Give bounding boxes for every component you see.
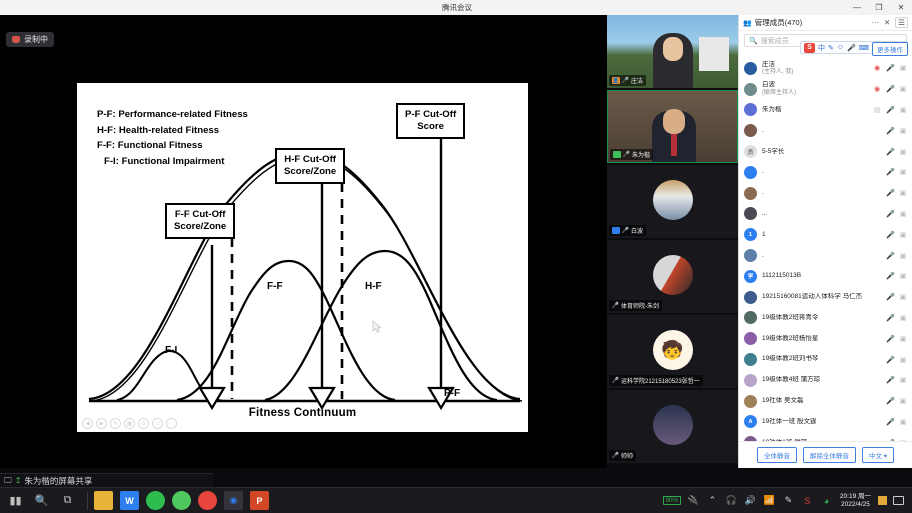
participant-name-text: 庄洁	[762, 61, 775, 68]
row-actions: 🎤 ▣	[886, 127, 907, 135]
video-tile-0[interactable]: 👤 🎤 庄洁	[607, 15, 738, 88]
list-item[interactable]: A 19社体一班 殷文霆 🎤 ▣	[739, 412, 912, 433]
share-bar-text: 朱为楷的屏幕共享	[24, 475, 92, 487]
participant-name: .	[762, 168, 764, 176]
video-tile-3[interactable]: 🎤 体育师院-朱剑	[607, 240, 738, 313]
row-actions: 🎤 ▣	[886, 148, 907, 156]
participants-panel: 👥 管理成员(470) ⋯ ✕ ☰ 🔍 搜索成员 S 中 ✎ ☺ 🎤 ⌨ 👤	[738, 15, 912, 468]
window-controls: — ❐ ✕	[846, 0, 912, 15]
pen-icon[interactable]: ✎	[110, 418, 121, 429]
camera-icon[interactable]: ▣	[899, 356, 907, 364]
mic-muted-icon[interactable]: 🎤	[886, 189, 894, 197]
participant-name-text: 5-5学长	[762, 148, 784, 155]
avatar	[744, 332, 757, 345]
mic-muted-icon[interactable]: 🎤	[886, 376, 894, 384]
participant-name-text: 白波	[762, 81, 775, 88]
row-actions: 🎤 ▣	[886, 189, 907, 197]
system-tray: 90% 🔌 ⌃ 🎧 🔊 📶 ✎ S ◕ 20:19 周一 2022/4/25	[663, 493, 909, 508]
ime-emoji-icon[interactable]: ☺	[837, 44, 844, 51]
language-button[interactable]: 中文 ▾	[862, 447, 894, 463]
avatar	[744, 353, 757, 366]
recording-label: 录制中	[24, 34, 48, 45]
tile-namebar-1: 🎤 朱为楷	[610, 149, 653, 160]
tie-shape	[671, 134, 677, 156]
participant-name: .	[762, 252, 764, 260]
volume-icon[interactable]: 🔊	[744, 494, 757, 508]
row-actions: 🎤 ▣	[886, 168, 907, 176]
tile-name-2: 白波	[631, 226, 643, 235]
row-actions: 🎤 ▣	[886, 231, 907, 239]
panel-title: 管理成员(470)	[755, 17, 803, 28]
mic-muted-icon: 🎤	[612, 377, 619, 384]
camera-icon[interactable]: ▣	[899, 397, 907, 405]
list-item[interactable]: 员 5-5学长 🎤 ▣	[739, 141, 912, 162]
mic-muted-icon[interactable]: 🎤	[886, 127, 894, 135]
camera-icon[interactable]: ▣	[899, 189, 907, 197]
face-shape	[663, 109, 685, 134]
curve-hf	[265, 251, 497, 400]
camera-icon[interactable]: ▣	[899, 64, 907, 72]
unmute-all-button[interactable]: 解除全体静音	[803, 447, 856, 463]
avatar	[744, 249, 757, 262]
tile-name-4: 运科学院21215180523张哲一	[621, 376, 700, 385]
avatar	[744, 187, 757, 200]
participant-name: .	[762, 127, 764, 135]
camera-icon[interactable]: ▣	[899, 148, 907, 156]
row-actions: 🎤 ▣	[886, 418, 907, 426]
list-item[interactable]: 19级体教4班 蒲方琼 🎤 ▣	[739, 370, 912, 391]
row-actions: 🎤 ▣	[886, 210, 907, 218]
participant-name-text: ...	[762, 210, 767, 217]
record-icon	[12, 36, 20, 43]
headset-icon[interactable]: 🎧	[725, 494, 738, 508]
mouse-cursor	[373, 321, 381, 332]
video-tile-2[interactable]: 🎤 白波	[607, 165, 738, 238]
tile-name-0: 庄洁	[631, 76, 643, 85]
participant-name: 白波 (联席主持人)	[762, 81, 796, 97]
avatar: 员	[744, 145, 757, 158]
video-filmstrip: 👤 🎤 庄洁 🎤 朱为楷 🎤 白波	[607, 15, 738, 468]
participant-name-text: .	[762, 189, 764, 196]
avatar	[744, 166, 757, 179]
mic-muted-icon[interactable]: 🎤	[886, 252, 894, 260]
chevron-up-icon[interactable]: ⌃	[706, 494, 719, 508]
mic-muted-icon[interactable]: 🎤	[886, 418, 894, 426]
mic-muted-icon[interactable]: 🎤	[886, 356, 894, 364]
list-item[interactable]: 19215160081运动人体科学 马仁杰 🎤 ▣	[739, 287, 912, 308]
green-badge-icon	[613, 151, 621, 158]
search-placeholder: 搜索成员	[761, 36, 789, 46]
avatar: 1	[744, 228, 757, 241]
face-shape	[663, 37, 683, 61]
curve-label-ff: F-F	[267, 281, 283, 292]
camera-icon[interactable]: ▣	[899, 376, 907, 384]
panel-menu-icon[interactable]: ☰	[895, 17, 908, 28]
row-actions: 🎤 ▣	[886, 376, 907, 384]
battery-indicator[interactable]: 90%	[663, 496, 681, 505]
list-item[interactable]: . 🎤 ▣	[739, 183, 912, 204]
windows-start-icon[interactable]: ▮▮	[8, 493, 23, 508]
participant-name: .	[762, 189, 764, 197]
ime-pen-icon[interactable]: ✎	[828, 44, 834, 52]
list-item[interactable]: 19级体教2班杨怡星 🎤 ▣	[739, 328, 912, 349]
mic-muted-icon: 🎤	[622, 77, 629, 84]
mic-muted-icon[interactable]: 🎤	[886, 64, 894, 72]
row-actions: 🎤 ▣	[886, 314, 907, 322]
next-icon[interactable]: ▶	[96, 418, 107, 429]
note-icon[interactable]	[878, 496, 887, 505]
avatar	[653, 255, 693, 295]
list-item[interactable]: 19级体教2班刘书琴 🎤 ▣	[739, 349, 912, 370]
7g-icon[interactable]: ◕	[820, 494, 833, 508]
clock-time: 20:19 周一	[840, 493, 871, 500]
slideshow-toolbar: ◀ ▶ ✎ ▦ ◎ ▭ ⋯	[82, 418, 177, 429]
avatar	[653, 405, 693, 445]
avatar	[744, 291, 757, 304]
house-shape	[699, 37, 729, 71]
curve-pf	[89, 153, 520, 399]
camera-icon[interactable]: ▣	[899, 231, 907, 239]
participant-name: ...	[762, 210, 767, 218]
callout-pf-line1: P-F Cut-Off	[405, 109, 456, 121]
taskbar-app-buttons: W ◉ P	[94, 491, 269, 510]
camera-icon[interactable]: ▣	[899, 85, 907, 93]
meeting-window-titlebar: 腾讯会议 — ❐ ✕	[0, 0, 912, 15]
video-tile-5[interactable]: 🎤 帅帅	[607, 390, 738, 463]
tile-namebar-2: 🎤 白波	[609, 225, 646, 236]
recording-indicator: 录制中	[6, 32, 54, 47]
callout-ff-cutoff: F-F Cut-Off Score/Zone	[165, 203, 235, 239]
notification-icon[interactable]	[893, 496, 904, 505]
participant-name-text: 19215160081运动人体科学 马仁杰	[762, 293, 862, 300]
row-actions: 🎤 ▣	[886, 293, 907, 301]
participant-name-text: .	[762, 168, 764, 175]
list-item[interactable]: 19级体教2班蒋青令 🎤 ▣	[739, 308, 912, 329]
taskbar-clock[interactable]: 20:19 周一 2022/4/25	[839, 493, 872, 508]
camera-icon[interactable]: ▣	[899, 168, 907, 176]
mic-muted-icon[interactable]: 🎤	[886, 168, 894, 176]
sogou-logo-icon[interactable]: S	[804, 43, 815, 53]
avatar: A	[744, 415, 757, 428]
ime-keyboard-icon[interactable]: ⌨	[859, 44, 869, 52]
camera-icon[interactable]: ▣	[899, 106, 907, 114]
avatar	[744, 311, 757, 324]
tile-name-1: 朱为楷	[632, 150, 650, 159]
window-title: 腾讯会议	[442, 2, 472, 13]
sogou-icon[interactable]: S	[801, 494, 814, 508]
participant-name: 19级体教2班刘书琴	[762, 355, 818, 363]
camera-icon[interactable]: ▣	[899, 252, 907, 260]
panel-more-icon[interactable]: ⋯	[871, 18, 879, 27]
row-actions: ◉ 🎤 ▣	[873, 64, 907, 72]
participant-name-text: .	[762, 127, 764, 134]
list-item[interactable]: . 🎤 ▣	[739, 162, 912, 183]
avatar	[744, 395, 757, 408]
slides-icon[interactable]: ▦	[124, 418, 135, 429]
taskbar-app-powerpoint[interactable]: P	[250, 491, 269, 510]
participant-name: 19级体教2班杨怡星	[762, 335, 818, 343]
presentation-slide: P-F: Performance-related Fitness H-F: He…	[75, 81, 530, 434]
avatar	[744, 207, 757, 220]
participant-name-text: 19级体教2班刘书琴	[762, 355, 818, 362]
avatar	[653, 180, 693, 220]
list-item[interactable]: . 🎤 ▣	[739, 120, 912, 141]
taskbar-app-file-explorer[interactable]	[94, 491, 113, 510]
mic-muted-icon[interactable]: 🎤	[886, 397, 894, 405]
shield-icon[interactable]: ▤	[873, 106, 881, 114]
callout-pf-line2: Score	[405, 121, 456, 133]
list-item[interactable]: 白波 (联席主持人) ◉ 🎤 ▣	[739, 79, 912, 100]
mic-muted-icon[interactable]: 🎤	[886, 210, 894, 218]
mic-muted-icon: 🎤	[612, 452, 619, 459]
mic-muted-icon[interactable]: 🎤	[886, 335, 894, 343]
panel-header: 👥 管理成员(470) ⋯ ✕ ☰	[739, 15, 912, 31]
participants-list[interactable]: 庄洁 (主持人, 我) ◉ 🎤 ▣ 白波 (联席主持人) ◉ 🎤	[739, 58, 912, 441]
taskbar-app-tencent-meeting[interactable]: ◉	[224, 491, 243, 510]
more-icon[interactable]: ⋯	[166, 418, 177, 429]
participant-name: 朱为楷	[762, 106, 782, 114]
participant-role: (联席主持人)	[762, 90, 796, 98]
ff-cutoff-arrow	[200, 388, 224, 408]
eye-icon[interactable]: ◉	[873, 85, 881, 93]
mic-muted-icon[interactable]: 🎤	[886, 293, 894, 301]
participant-name: 庄洁 (主持人, 我)	[762, 61, 793, 77]
curve-label-hf: H-F	[365, 281, 382, 292]
search-icon: 🔍	[749, 37, 758, 45]
row-actions: 🎤 ▣	[886, 356, 907, 364]
taskbar-app-wps-office[interactable]: W	[120, 491, 139, 510]
participant-name-text: .	[762, 252, 764, 259]
plug-icon[interactable]: 🔌	[687, 494, 700, 508]
mute-all-button[interactable]: 全体静音	[757, 447, 797, 463]
camera-icon[interactable]: ▣	[899, 335, 907, 343]
camera-icon[interactable]: ▣	[899, 272, 907, 280]
hf-cutoff-arrow	[310, 388, 334, 408]
list-item[interactable]: 19社体1班 谢琼 🎤 ▣	[739, 432, 912, 441]
participant-name-text: 19社体一班 殷文霆	[762, 418, 817, 425]
monitor-icon: 🖵	[4, 476, 12, 486]
taskbar-app-qq[interactable]	[172, 491, 191, 510]
list-item[interactable]: 朱为楷 ▤ 🎤 ▣	[739, 100, 912, 121]
mic-on-icon[interactable]: 🎤	[886, 106, 894, 114]
list-item[interactable]: 学 1112115013B 🎤 ▣	[739, 266, 912, 287]
prev-icon[interactable]: ◀	[82, 418, 93, 429]
host-badge-icon: 👤	[612, 77, 620, 84]
participant-name: 19级体教2班蒋青令	[762, 314, 818, 322]
taskbar-divider	[87, 492, 88, 510]
participant-name-text: 1	[762, 231, 766, 238]
tile-namebar-0: 👤 🎤 庄洁	[609, 75, 646, 86]
ime-voice-icon[interactable]: 🎤	[847, 44, 856, 52]
eye-icon[interactable]: ◉	[873, 64, 881, 72]
avatar: 学	[744, 270, 757, 283]
participant-name: 19级体教4班 蒲方琼	[762, 376, 820, 384]
participant-name: 19社体一班 殷文霆	[762, 418, 817, 426]
avatar: 🧒	[653, 330, 693, 370]
list-item[interactable]: 庄洁 (主持人, 我) ◉ 🎤 ▣	[739, 58, 912, 79]
tile-name-5: 帅帅	[621, 451, 633, 460]
share-icon: ↥	[15, 476, 22, 485]
mic-muted-icon: 🎤	[612, 302, 619, 309]
participant-name-text: 19社体 吴文磊	[762, 397, 804, 404]
mic-muted-icon[interactable]: 🎤	[886, 231, 894, 239]
participant-name: 19215160081运动人体科学 马仁杰	[762, 293, 862, 301]
callout-hf-line2: Score/Zone	[284, 166, 336, 178]
row-actions: 🎤 ▣	[886, 335, 907, 343]
search-icon[interactable]: 🔍	[34, 493, 49, 508]
curve-label-fi: F-I	[165, 345, 177, 356]
panel-close-icon[interactable]: ✕	[884, 18, 890, 27]
avatar	[744, 124, 757, 137]
participant-name-text: 19级体教4班 蒲方琼	[762, 376, 820, 383]
mic-muted-icon[interactable]: 🎤	[886, 85, 894, 93]
screen-icon[interactable]: ▭	[152, 418, 163, 429]
callout-pf-cutoff: P-F Cut-Off Score	[396, 103, 465, 139]
participant-role: (主持人, 我)	[762, 69, 793, 77]
list-item[interactable]: 19社体 吴文磊 🎤 ▣	[739, 391, 912, 412]
tile-namebar-3: 🎤 体育师院-朱剑	[609, 300, 662, 311]
ime-mode-icon[interactable]: 中	[818, 43, 825, 53]
more-actions-button[interactable]: 更多操作	[872, 42, 908, 56]
mic-muted-icon[interactable]: 🎤	[886, 148, 894, 156]
zoom-icon[interactable]: ◎	[138, 418, 149, 429]
close-button[interactable]: ✕	[890, 0, 912, 15]
list-item[interactable]: ... 🎤 ▣	[739, 204, 912, 225]
mic-on-icon: 🎤	[623, 151, 630, 158]
participant-name-text: 1112115013B	[762, 272, 801, 279]
tile-namebar-5: 🎤 帅帅	[609, 450, 636, 461]
participant-name-text: 19级体教2班蒋青令	[762, 314, 818, 321]
panel-title-wrap: 👥 管理成员(470)	[743, 17, 802, 28]
participant-name-text: 朱为楷	[762, 106, 782, 113]
windows-taskbar: ▮▮ 🔍 ⧉ W ◉ P 90% 🔌 ⌃ 🎧 🔊 📶 ✎ S ◕ 20:19 周…	[0, 487, 912, 513]
camera-icon[interactable]: ▣	[899, 210, 907, 218]
participant-name: 19社体 吴文磊	[762, 397, 804, 405]
callout-hf-line1: H-F Cut-Off	[284, 154, 336, 166]
blue-badge-icon	[612, 227, 620, 234]
task-view-icon[interactable]: ⧉	[60, 493, 75, 508]
avatar	[744, 62, 757, 75]
maximize-button[interactable]: ❐	[868, 0, 890, 15]
tile-namebar-4: 🎤 运科学院21215180523张哲一	[609, 375, 703, 386]
callout-hf-cutoff: H-F Cut-Off Score/Zone	[275, 148, 345, 184]
mic-muted-icon: 🎤	[622, 227, 629, 234]
participant-name-text: 19级体教2班杨怡星	[762, 335, 818, 342]
taskbar-system-buttons: ▮▮ 🔍 ⧉	[4, 493, 81, 508]
row-actions: 🎤 ▣	[886, 252, 907, 260]
camera-icon[interactable]: ▣	[899, 314, 907, 322]
curve-ff	[177, 261, 395, 400]
pen-icon[interactable]: ✎	[782, 494, 795, 508]
clock-date: 2022/4/25	[840, 501, 871, 508]
panel-header-actions: ⋯ ✕ ☰	[871, 17, 908, 28]
tile-name-3: 体育师院-朱剑	[621, 301, 659, 310]
avatar	[744, 374, 757, 387]
avatar	[744, 83, 757, 96]
callout-ff-line2: Score/Zone	[174, 221, 226, 233]
mic-muted-icon[interactable]: 🎤	[886, 272, 894, 280]
network-icon[interactable]: 📶	[763, 494, 776, 508]
participant-name: 1	[762, 231, 766, 239]
callout-ff-line1: F-F Cut-Off	[174, 209, 226, 221]
participant-name: 1112115013B	[762, 272, 801, 280]
curve-label-pf: P-F	[444, 388, 460, 399]
panel-footer: 全体静音 解除全体静音 中文 ▾	[739, 441, 912, 468]
avatar	[744, 103, 757, 116]
people-icon: 👥	[743, 19, 752, 27]
video-tile-4[interactable]: 🧒 🎤 运科学院21215180523张哲一	[607, 315, 738, 388]
curve-pf-shadow	[91, 157, 522, 401]
screen-root: 腾讯会议 — ❐ ✕ 录制中 P-F: Performance-related …	[0, 0, 912, 513]
video-tile-1[interactable]: 🎤 朱为楷	[607, 90, 738, 163]
screen-share-bar[interactable]: 🖵 ↥ 朱为楷的屏幕共享	[0, 473, 213, 487]
row-actions: ◉ 🎤 ▣	[873, 85, 907, 93]
row-actions: 🎤 ▣	[886, 397, 907, 405]
taskbar-app-chrome[interactable]	[198, 491, 217, 510]
list-item[interactable]: . 🎤 ▣	[739, 245, 912, 266]
camera-icon[interactable]: ▣	[899, 293, 907, 301]
taskbar-app-wechat[interactable]	[146, 491, 165, 510]
row-actions: 🎤 ▣	[886, 272, 907, 280]
row-actions: ▤ 🎤 ▣	[873, 106, 907, 114]
camera-icon[interactable]: ▣	[899, 127, 907, 135]
mic-muted-icon[interactable]: 🎤	[886, 314, 894, 322]
camera-icon[interactable]: ▣	[899, 418, 907, 426]
list-item[interactable]: 1 1 🎤 ▣	[739, 224, 912, 245]
shared-screen-stage: 录制中 P-F: Performance-related Fitness H-F…	[0, 15, 607, 468]
minimize-button[interactable]: —	[846, 0, 868, 15]
participant-name: 5-5学长	[762, 148, 784, 156]
